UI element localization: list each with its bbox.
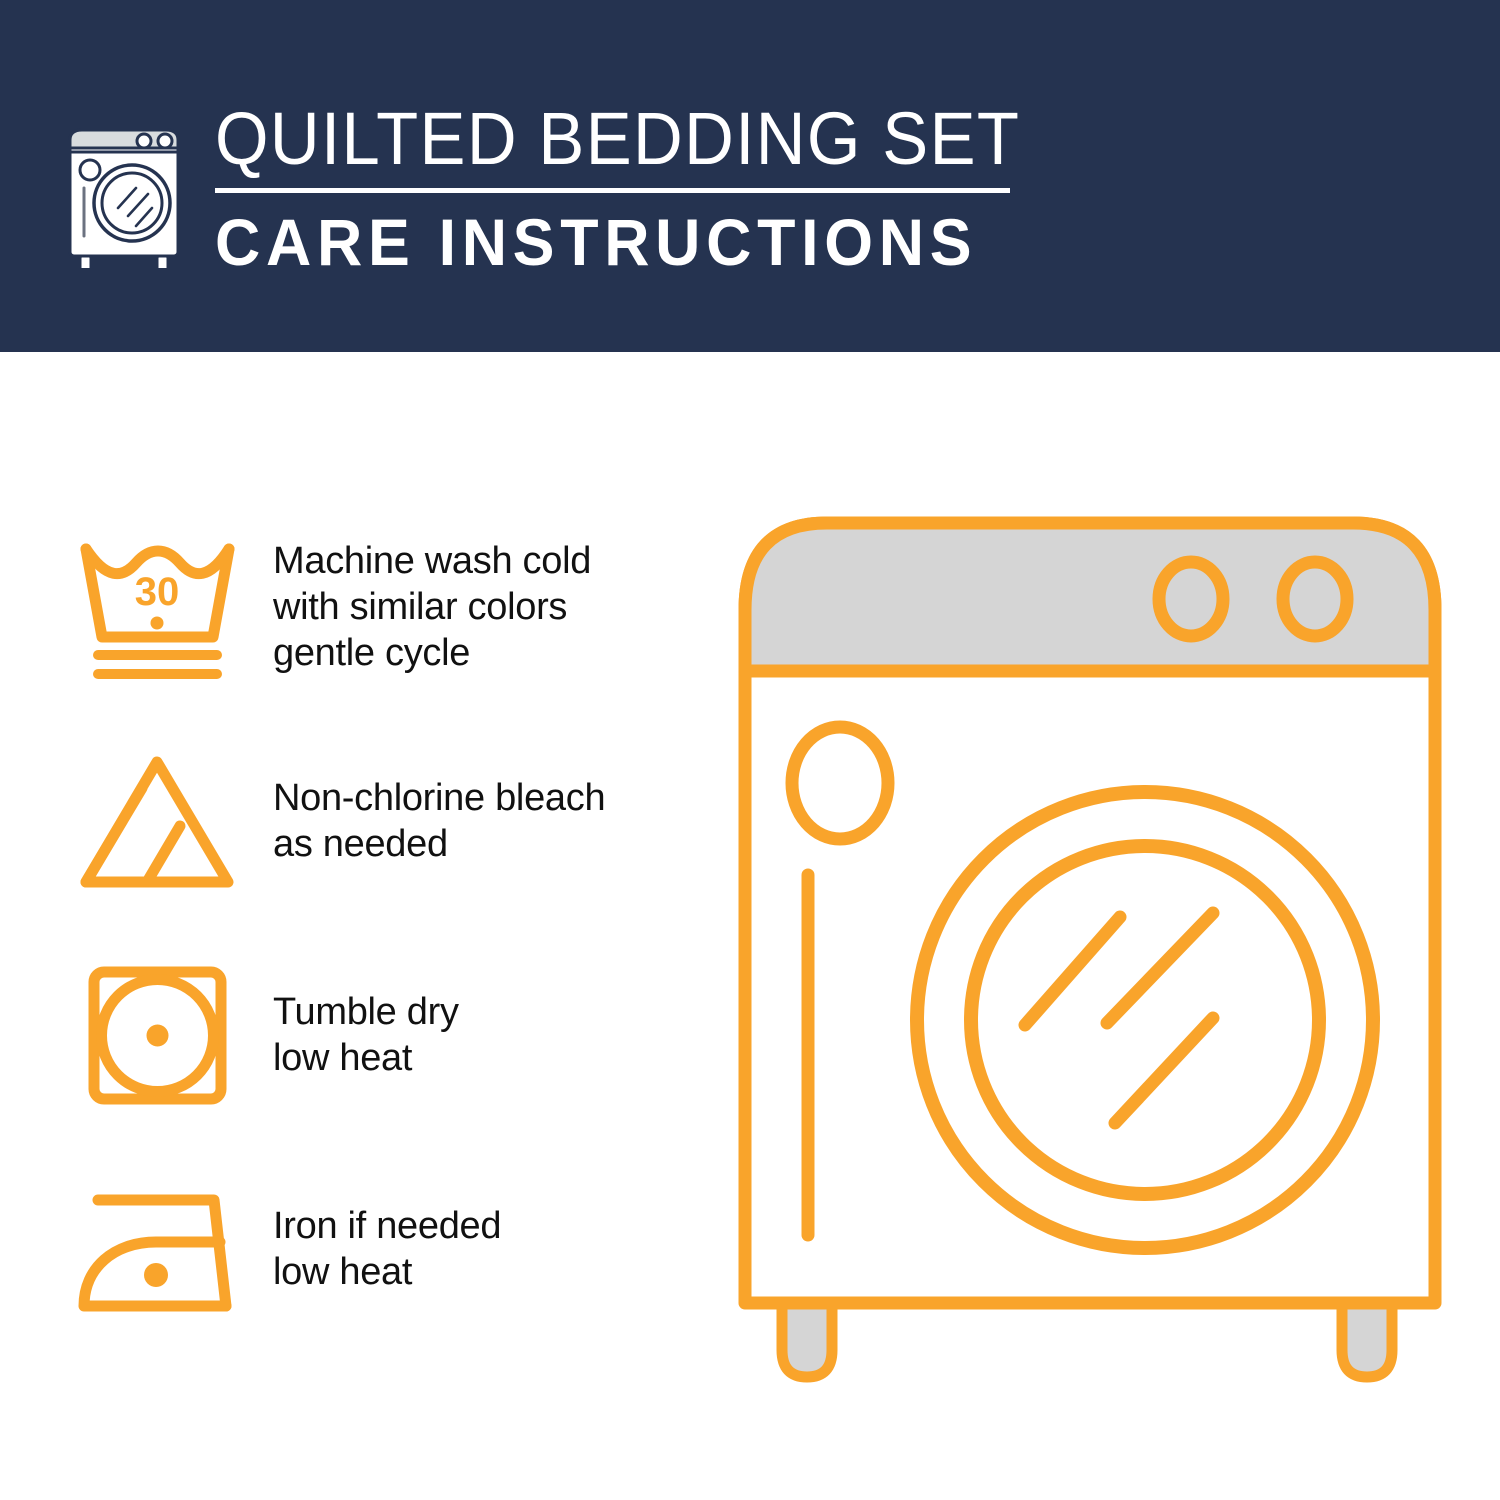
washing-machine-illustration	[735, 495, 1445, 1425]
care-row-machine-wash: 30 Machine wash cold with similar colors…	[70, 500, 710, 714]
care-line: as needed	[273, 821, 710, 867]
care-line: low heat	[273, 1035, 710, 1081]
page-subtitle: CARE INSTRUCTIONS	[215, 205, 994, 279]
care-text-bleach: Non-chlorine bleach as needed	[245, 775, 710, 867]
iron-icon	[70, 1174, 245, 1324]
knob-right	[1283, 562, 1347, 636]
care-line: Iron if needed	[273, 1203, 710, 1249]
wash-tub-icon: 30	[70, 527, 245, 687]
care-line: gentle cycle	[273, 630, 710, 676]
care-line: Non-chlorine bleach	[273, 775, 710, 821]
care-text-machine-wash: Machine wash cold with similar colors ge…	[245, 538, 710, 676]
care-line: Machine wash cold	[273, 538, 710, 584]
care-row-bleach: Non-chlorine bleach as needed	[70, 714, 710, 928]
title-divider	[215, 188, 1010, 193]
wash-temperature-label: 30	[135, 570, 180, 614]
care-instruction-list: 30 Machine wash cold with similar colors…	[70, 500, 710, 1356]
care-row-tumble-dry: Tumble dry low heat	[70, 928, 710, 1142]
header-text-block: QUILTED BEDDING SET CARE INSTRUCTIONS	[215, 98, 1035, 279]
care-line: low heat	[273, 1249, 710, 1295]
care-line: Tumble dry	[273, 989, 710, 1035]
knob-left	[1159, 562, 1223, 636]
washing-machine-icon	[62, 108, 194, 268]
care-row-iron: Iron if needed low heat	[70, 1142, 710, 1356]
bleach-triangle-icon	[70, 746, 245, 896]
page-title: QUILTED BEDDING SET	[215, 98, 978, 180]
care-text-tumble-dry: Tumble dry low heat	[245, 989, 710, 1081]
header-band: QUILTED BEDDING SET CARE INSTRUCTIONS	[0, 0, 1500, 352]
tumble-dry-icon	[70, 960, 245, 1110]
care-instructions-infographic: QUILTED BEDDING SET CARE INSTRUCTIONS 30	[0, 0, 1500, 1500]
care-text-iron: Iron if needed low heat	[245, 1203, 710, 1295]
care-line: with similar colors	[273, 584, 710, 630]
